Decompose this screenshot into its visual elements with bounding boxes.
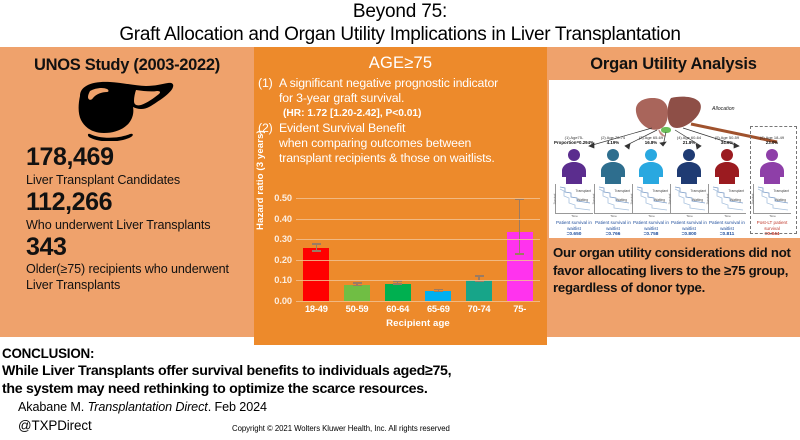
- group-label: (6) Age 18-4923.0%: [752, 135, 792, 146]
- chart-bar-cell: [337, 198, 378, 301]
- survival-value: =0.650: [567, 232, 582, 237]
- km-y-label: Survival: [629, 193, 633, 204]
- point-2-line3: transplant recipients & those on waitlis…: [279, 151, 547, 166]
- km-x-label: Time: [648, 214, 655, 218]
- km-curve-chart: TransplantWaitingTimeSurvival: [670, 184, 708, 214]
- km-x-label: Time: [769, 214, 776, 218]
- poster-root: Beyond 75: Graft Allocation and Organ Ut…: [0, 0, 800, 440]
- km-label-waiting: Waiting: [775, 198, 786, 202]
- stat-label-transplants: Who underwent Liver Transplants: [26, 217, 254, 233]
- km-label-waiting: Waiting: [730, 198, 741, 202]
- chart-x-tick: 18-49: [296, 304, 337, 314]
- chart-x-tick: 60-64: [377, 304, 418, 314]
- chart-gridline: 0.40: [296, 219, 540, 220]
- chart-bar[interactable]: [466, 280, 492, 301]
- chart-gridline: 0.30: [296, 239, 540, 240]
- chart-gridline: 0.20: [296, 260, 540, 261]
- allocation-label: Allocation: [712, 106, 735, 112]
- survival-value: =0.811: [720, 232, 735, 237]
- chart-bar[interactable]: [425, 291, 451, 301]
- stat-value-candidates: 178,469: [26, 143, 254, 172]
- survival-label-text: Post-LT patient survival: [757, 220, 788, 231]
- group-label: (5) Age 50-5934.0%: [707, 135, 747, 146]
- chart-error-cap-bottom: [515, 253, 524, 255]
- survival-value-label: Patient survival in waitlist=0.650: [552, 220, 596, 238]
- organ-utility-heading: Organ Utility Analysis: [547, 55, 800, 74]
- chart-error-cap-bottom: [312, 250, 321, 252]
- citation-author: Akabane M.: [18, 400, 84, 414]
- patient-figure-icon: [711, 148, 743, 184]
- chart-y-axis-label: Hazard ratio (3 years): [255, 130, 266, 230]
- km-y-label: Survival: [591, 193, 595, 204]
- point-2-line1: Evident Survival Benefit: [279, 121, 405, 136]
- patient-figure-icon: [635, 148, 667, 184]
- title-line-2: Graft Allocation and Organ Utility Impli…: [0, 23, 800, 46]
- chart-x-tick: 70-74: [459, 304, 500, 314]
- point-1-line2: for 3-year graft survival.: [279, 91, 547, 106]
- chart-gridline: 0.00: [296, 301, 540, 302]
- stat-value-transplants: 112,266: [26, 188, 254, 217]
- chart-error-cap-top: [475, 275, 484, 277]
- km-x-label: Time: [571, 214, 578, 218]
- chart-x-tick: 50-59: [337, 304, 378, 314]
- social-handle[interactable]: @TXPDirect: [18, 418, 92, 433]
- km-curve-chart: TransplantWaitingTimeSurvival: [632, 184, 670, 214]
- survival-label-text: Patient survival in waitlist: [671, 220, 707, 231]
- chart-y-tick: 0.30: [274, 234, 292, 244]
- km-y-label: Survival: [705, 193, 709, 204]
- chart-x-tick-labels: 18-4950-5960-6465-6970-7475-: [296, 304, 540, 314]
- chart-error-cap-bottom: [393, 283, 402, 285]
- organ-utility-conclusion: Our organ utility considerations did not…: [553, 244, 797, 297]
- km-label-transplant: Transplant: [774, 189, 789, 193]
- chart-bars: [296, 198, 540, 301]
- km-y-label: Survival: [552, 193, 556, 204]
- point-2-line2: when comparing outcomes between: [279, 136, 547, 151]
- chart-error-cap-top: [312, 243, 321, 245]
- km-curve-chart: TransplantWaitingTimeSurvival: [753, 184, 791, 214]
- km-label-waiting: Waiting: [577, 198, 588, 202]
- liver-icon: [68, 79, 186, 141]
- group-proportion: 4.19%: [593, 140, 633, 146]
- chart-x-tick: 75-: [499, 304, 540, 314]
- km-label-waiting: Waiting: [692, 198, 703, 202]
- chart-y-tick: 0.20: [274, 255, 292, 265]
- group-proportion: Proportion=0.294%: [554, 140, 594, 146]
- survival-value-label: Patient survival in waitlist=0.811: [705, 220, 749, 238]
- citation-journal: Transplantation Direct: [88, 400, 208, 414]
- km-label-transplant: Transplant: [691, 189, 706, 193]
- km-x-label: Time: [686, 214, 693, 218]
- point-1-marker: (1): [258, 76, 279, 91]
- conclusion-line-1: While Liver Transplants offer survival b…: [2, 363, 451, 379]
- patient-figure-icon: [756, 148, 788, 184]
- chart-x-axis-label: Recipient age: [296, 318, 540, 329]
- point-1-detail: (HR: 1.72 [1.20-2.42], P<0.01): [283, 106, 547, 121]
- group-label: (1) Age75-Proportion=0.294%: [554, 135, 594, 146]
- km-curve-chart: TransplantWaitingTimeSurvival: [708, 184, 746, 214]
- km-y-label: Survival: [750, 193, 754, 204]
- survival-value-label: Post-LT patient survival=0.844: [750, 220, 794, 238]
- patient-figure-icon: [597, 148, 629, 184]
- conclusion-heading: CONCLUSION:: [2, 346, 94, 361]
- survival-label-text: Patient survival in waitlist: [633, 220, 669, 231]
- chart-error-cap-bottom: [434, 291, 443, 293]
- km-label-transplant: Transplant: [615, 189, 630, 193]
- point-2: (2) Evident Survival Benefit: [258, 121, 547, 136]
- chart-y-tick: 0.00: [274, 296, 292, 306]
- stat-label-candidates: Liver Transplant Candidates: [26, 172, 254, 188]
- chart-error-cap-bottom: [353, 285, 362, 287]
- survival-label-text: Patient survival in waitlist: [556, 220, 592, 231]
- survival-label-text: Patient survival in waitlist: [595, 220, 631, 231]
- chart-bar[interactable]: [385, 284, 411, 302]
- km-curve-chart: TransplantWaitingTimeSurvival: [555, 184, 593, 214]
- footer: CONCLUSION: While Liver Transplants offe…: [0, 345, 800, 440]
- group-proportion: 16.8%: [631, 140, 671, 146]
- chart-x-tick: 65-69: [418, 304, 459, 314]
- unos-study-panel: UNOS Study (2003-2022) 178,469 Liver Tra…: [0, 47, 254, 337]
- chart-gridline: 0.50: [296, 198, 540, 199]
- unos-study-heading: UNOS Study (2003-2022): [0, 56, 254, 75]
- copyright-notice: Copyright © 2021 Wolters Kluwer Health, …: [232, 424, 450, 433]
- point-1: (1) A significant negative prognostic in…: [258, 76, 547, 91]
- group-proportion: 21.8%: [669, 140, 709, 146]
- chart-y-tick: 0.50: [274, 193, 292, 203]
- hazard-ratio-chart: Hazard ratio (3 years) 0.000.100.200.300…: [254, 192, 547, 345]
- title-line-1: Beyond 75:: [0, 0, 800, 23]
- km-label-waiting: Waiting: [654, 198, 665, 202]
- chart-error-cap-top: [353, 282, 362, 284]
- age-75-heading: AGE≥75: [254, 54, 547, 73]
- survival-value: =0.844: [765, 232, 780, 237]
- km-label-transplant: Transplant: [576, 189, 591, 193]
- km-label-transplant: Transplant: [729, 189, 744, 193]
- km-x-label: Time: [724, 214, 731, 218]
- survival-value: =0.758: [644, 232, 659, 237]
- chart-bar-cell: [296, 198, 337, 301]
- page-title: Beyond 75: Graft Allocation and Organ Ut…: [0, 0, 800, 47]
- point-1-line1: A significant negative prognostic indica…: [279, 76, 498, 91]
- chart-y-tick: 0.40: [274, 214, 292, 224]
- citation-date: . Feb 2024: [208, 400, 267, 414]
- chart-bar[interactable]: [303, 248, 329, 301]
- citation: Akabane M. Transplantation Direct. Feb 2…: [18, 400, 267, 414]
- chart-bar[interactable]: [344, 285, 370, 301]
- chart-bar-cell: [499, 198, 540, 301]
- group-label: (3) Age 65-6916.8%: [631, 135, 671, 146]
- chart-error-bar: [519, 200, 521, 255]
- patient-figure-icon: [673, 148, 705, 184]
- km-y-label: Survival: [667, 193, 671, 204]
- km-label-waiting: Waiting: [616, 198, 627, 202]
- chart-bar-cell: [377, 198, 418, 301]
- chart-bar-cell: [418, 198, 459, 301]
- survival-label-text: Patient survival in waitlist: [709, 220, 745, 231]
- group-label: (2) Age 70-744.19%: [593, 135, 633, 146]
- survival-value: =0.800: [682, 232, 697, 237]
- km-curve-chart: TransplantWaitingTimeSurvival: [594, 184, 632, 214]
- group-proportion: 34.0%: [707, 140, 747, 146]
- conclusion-line-2: the system may need rethinking to optimi…: [2, 381, 428, 397]
- stat-value-older: 343: [26, 233, 254, 262]
- chart-bar-cell: [459, 198, 500, 301]
- stat-label-older: Older(≥75) recipients who underwent Live…: [26, 262, 254, 293]
- chart-y-tick: 0.10: [274, 275, 292, 285]
- organ-utility-figure: Allocation (1) Age75-Proportion=0.294%Tr…: [549, 80, 800, 238]
- km-x-label: Time: [610, 214, 617, 218]
- age-75-points: (1) A significant negative prognostic in…: [258, 76, 547, 166]
- group-proportion: 23.0%: [752, 140, 792, 146]
- group-label: (4) Age 60-6421.8%: [669, 135, 709, 146]
- chart-plot-area: 0.000.100.200.300.400.50: [296, 198, 540, 301]
- km-label-transplant: Transplant: [653, 189, 668, 193]
- survival-value: =0.766: [606, 232, 621, 237]
- chart-gridline: 0.10: [296, 280, 540, 281]
- patient-figure-icon: [558, 148, 590, 184]
